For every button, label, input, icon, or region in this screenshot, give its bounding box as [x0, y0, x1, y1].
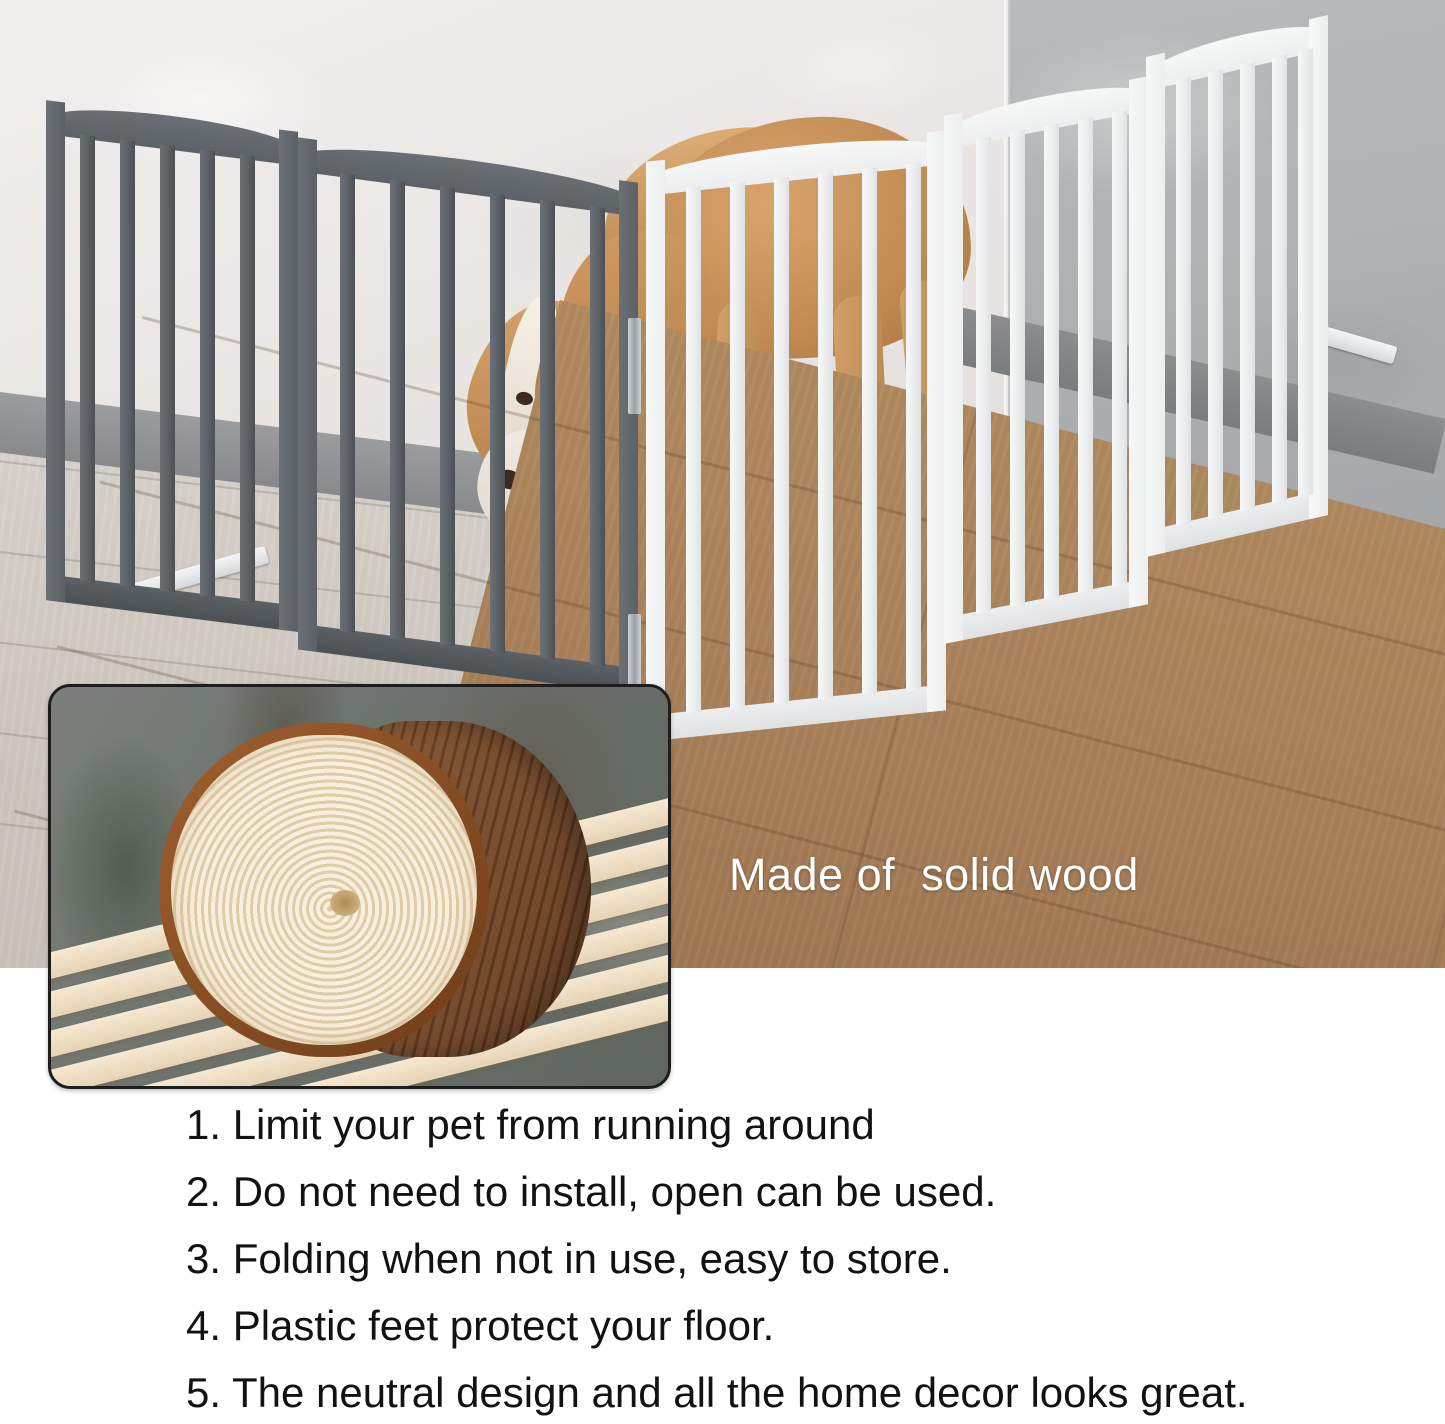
list-item: 2. Do not need to install, open can be u…	[186, 1171, 1426, 1213]
panel-stile	[646, 160, 665, 742]
solid-wood-inset-photo	[48, 684, 671, 1089]
log-growth-rings	[171, 735, 477, 1045]
product-image: Made of solid wood 1. Limit your pet fro…	[0, 0, 1445, 1424]
photo-caption: Made of solid wood	[729, 849, 1139, 901]
log-cross-section	[141, 717, 591, 1062]
gate-panel-4	[944, 76, 1148, 644]
list-item: 5. The neutral design and all the home d…	[186, 1372, 1426, 1414]
list-item: 3. Folding when not in use, easy to stor…	[186, 1238, 1426, 1280]
list-item: 4. Plastic feet protect your floor.	[186, 1305, 1426, 1347]
gate-panel-2	[298, 137, 638, 694]
gate-panel-3	[646, 130, 946, 742]
panel-stile	[298, 137, 317, 652]
gate-hinge	[628, 614, 641, 694]
panel-stile	[279, 130, 298, 632]
panel-stile	[1146, 53, 1165, 557]
gate-panel-1	[46, 100, 298, 632]
list-item: 1. Limit your pet from running around	[186, 1104, 1426, 1146]
feature-list: 1. Limit your pet from running around 2.…	[186, 1104, 1426, 1424]
gate-hinge	[628, 318, 641, 414]
panel-stile	[46, 100, 65, 602]
gate-panel-5	[1146, 15, 1328, 557]
log-heartwood-center	[330, 890, 360, 916]
panel-stile	[944, 112, 963, 644]
